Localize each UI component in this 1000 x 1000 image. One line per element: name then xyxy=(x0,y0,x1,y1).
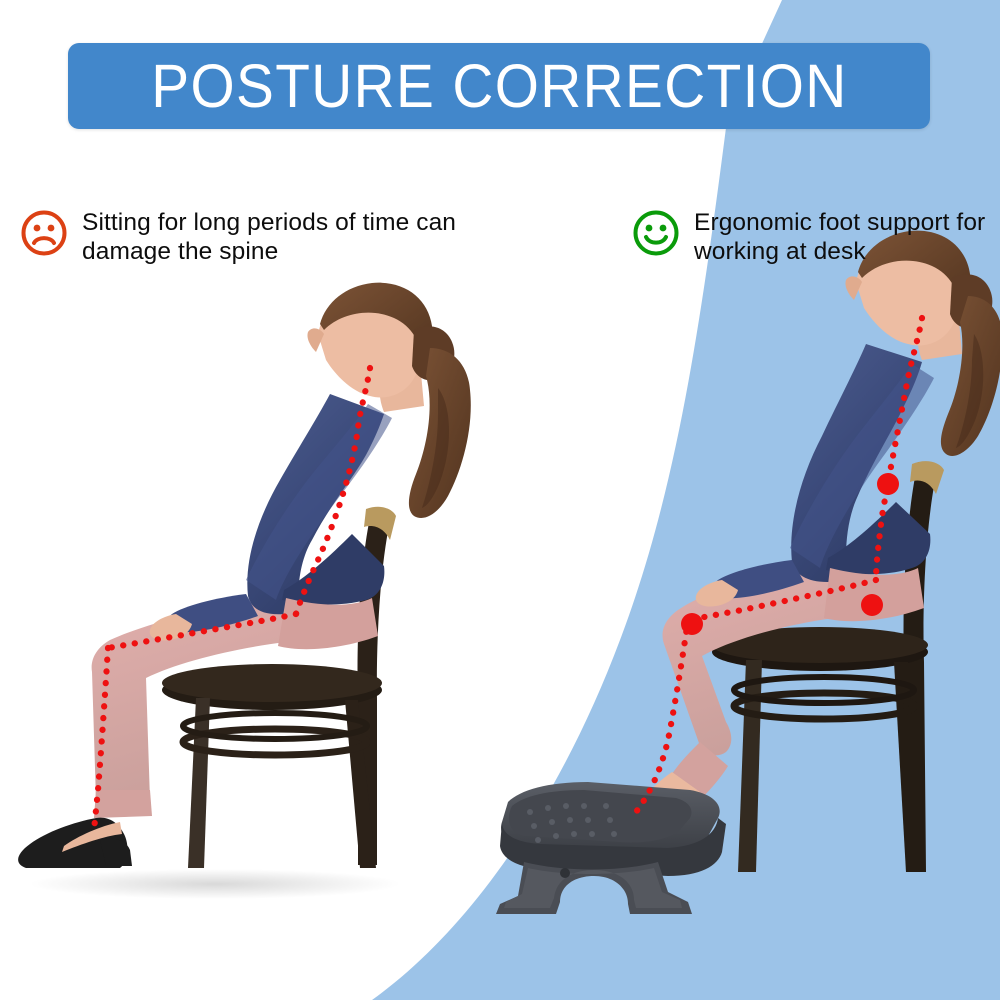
caption-bad-posture-text: Sitting for long periods of time can dam… xyxy=(82,207,456,266)
sad-face-icon xyxy=(20,209,68,257)
caption-good-posture: Ergonomic foot support for working at de… xyxy=(632,207,992,266)
figure-bad-posture xyxy=(18,283,471,899)
joint-marker-hip xyxy=(861,594,883,616)
floor-shadow-left xyxy=(30,869,400,899)
page-title: POSTURE CORRECTION xyxy=(151,56,847,117)
ergonomic-foot-rest xyxy=(496,782,726,914)
caption-bad-posture: Sitting for long periods of time can dam… xyxy=(20,207,490,266)
caption-good-posture-text: Ergonomic foot support for working at de… xyxy=(694,207,985,266)
infographic-canvas: POSTURE CORRECTION Sitting for long peri… xyxy=(0,0,1000,1000)
joint-marker-upper-back xyxy=(877,473,899,495)
shoe-left xyxy=(18,818,132,868)
joint-marker-knee xyxy=(681,613,703,635)
scene-illustration xyxy=(0,0,1000,1000)
torso-right xyxy=(790,344,934,621)
figure-good-posture xyxy=(496,231,1000,914)
caption-bad-line-2: damage the spine xyxy=(82,238,456,267)
caption-good-line-1: Ergonomic foot support for xyxy=(694,209,985,238)
smiley-face-icon xyxy=(632,209,680,257)
footrest-pivot-knob xyxy=(560,868,570,878)
title-banner: POSTURE CORRECTION xyxy=(68,43,930,129)
caption-good-line-2: working at desk xyxy=(694,238,985,267)
caption-bad-line-1: Sitting for long periods of time can xyxy=(82,209,456,238)
